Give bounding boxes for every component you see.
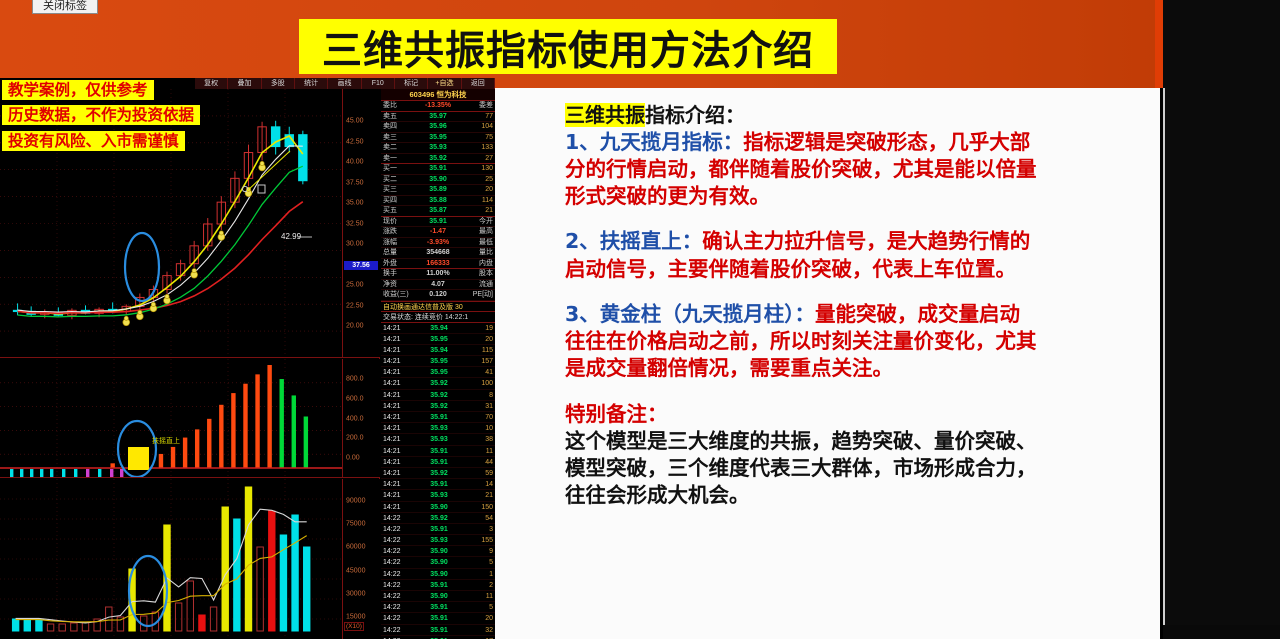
quote-row: 买二35.9025 bbox=[381, 175, 495, 186]
toolbar-button-1[interactable]: 叠加 bbox=[228, 78, 261, 89]
current-price-tag: 37.56 bbox=[344, 261, 378, 270]
note-label: 特别备注： bbox=[565, 401, 1142, 428]
quote-row: 现价35.91今开 bbox=[381, 217, 495, 228]
volume-bar bbox=[210, 607, 216, 631]
quote-row: 换手11.00%股本 bbox=[381, 269, 495, 280]
volume-bar bbox=[269, 511, 275, 631]
indicator-bar bbox=[280, 379, 284, 468]
description-panel: 三维共振指标介绍： 1、九天揽月指标：指标逻辑是突破形态，几乎大部 分的行情启动… bbox=[495, 88, 1160, 639]
tick-row: 14:2235.912 bbox=[381, 580, 495, 591]
volume-bar bbox=[234, 519, 240, 631]
disclaimer-1: 教学案例，仅供参考 bbox=[2, 80, 154, 100]
axis-label: 25.00 bbox=[346, 282, 364, 289]
price-annotation-label: 42.99 bbox=[281, 232, 302, 241]
axis-label: 400.0 bbox=[346, 415, 364, 422]
tick-row: 14:2135.92100 bbox=[381, 378, 495, 389]
volume-bar bbox=[36, 619, 42, 631]
trade-status: 交易状态: 连续竞价 14:22:1 bbox=[381, 312, 495, 323]
toolbar-button-0[interactable]: 复权 bbox=[195, 78, 228, 89]
indicator-bar bbox=[304, 417, 308, 469]
tick-row: 14:2135.9310 bbox=[381, 423, 495, 434]
toolbar-button-2[interactable]: 多股 bbox=[262, 78, 295, 89]
tick-row: 14:2235.915 bbox=[381, 602, 495, 613]
quote-row: 委比-13.35%委差 bbox=[381, 101, 495, 112]
buy-signal-marker bbox=[245, 187, 252, 197]
indicator-svg: 扶摇直上 bbox=[0, 359, 380, 478]
axis-label: 45.00 bbox=[346, 118, 364, 125]
axis-label: 32.50 bbox=[346, 220, 364, 227]
tick-row: 14:2135.9520 bbox=[381, 334, 495, 345]
indicator-lower-bar bbox=[40, 469, 43, 478]
quote-row: 买一35.91130 bbox=[381, 164, 495, 175]
axis-label: 200.0 bbox=[346, 435, 364, 442]
quote-row: 涨跌-1.47最高 bbox=[381, 227, 495, 238]
axis-label: 30000 bbox=[346, 590, 365, 597]
quote-row: 涨幅-3.93%最低 bbox=[381, 238, 495, 249]
item2-label: 2、扶摇直上： bbox=[565, 229, 702, 253]
note-line1: 这个模型是三大维度的共振，趋势突破、量价突破、 bbox=[565, 428, 1142, 455]
indicator-lower-bar bbox=[98, 469, 101, 478]
tick-row: 14:2135.9114 bbox=[381, 479, 495, 490]
indicator-lower-bar bbox=[86, 469, 89, 478]
quote-row: 卖四35.96104 bbox=[381, 122, 495, 133]
indicator-bar bbox=[171, 447, 175, 468]
signal-label-fuyaozhishang: 扶摇直上 bbox=[152, 436, 180, 445]
volume-bar bbox=[199, 615, 205, 631]
tick-row: 14:2235.905 bbox=[381, 557, 495, 568]
item3-label: 3、黄金柱（九天揽月柱）： bbox=[565, 302, 815, 326]
disclaimer-2: 历史数据，不作为投资依据 bbox=[2, 105, 200, 125]
volume-svg bbox=[0, 479, 380, 639]
candle bbox=[299, 135, 307, 181]
tick-row: 14:2135.9231 bbox=[381, 401, 495, 412]
volume-bar bbox=[59, 624, 65, 631]
indicator-lower-bar bbox=[62, 469, 65, 478]
chart-area[interactable]: 42.99 45.0042.5040.0037.5035.0032.5030.0… bbox=[0, 89, 380, 639]
indicator-lower-bar bbox=[110, 469, 113, 478]
header-right-strip bbox=[1155, 0, 1163, 88]
axis-label: 0.00 bbox=[346, 455, 360, 462]
buy-signal-marker bbox=[150, 302, 157, 312]
item1-line2: 分的行情启动，都伴随着股价突破，尤其是能以倍量 bbox=[565, 156, 1142, 183]
indicator-bar bbox=[159, 454, 163, 468]
letterbox-right bbox=[1163, 0, 1280, 639]
quote-row: 净资4.07流通 bbox=[381, 280, 495, 291]
toolbar-button-5[interactable]: F10 bbox=[362, 78, 395, 89]
toolbar-button-8[interactable]: 返回 bbox=[462, 78, 495, 89]
axis-label: 40.00 bbox=[346, 159, 364, 166]
tick-list[interactable]: 14:2135.941914:2135.952014:2135.9411514:… bbox=[381, 323, 495, 639]
axis-label: 15000 bbox=[346, 614, 365, 621]
tick-row: 14:2235.909 bbox=[381, 546, 495, 557]
volume-bar bbox=[292, 515, 298, 631]
tick-row: 14:2135.9541 bbox=[381, 367, 495, 378]
toolbar-button-4[interactable]: 画线 bbox=[328, 78, 361, 89]
indicator-lower-bar bbox=[30, 469, 33, 478]
axis-label: 800.0 bbox=[346, 376, 364, 383]
volume-bar bbox=[24, 619, 30, 631]
indicator-bar bbox=[110, 463, 114, 468]
indicator-bar bbox=[255, 374, 259, 468]
quote-row: 卖一35.9227 bbox=[381, 154, 495, 165]
axis-label: 45000 bbox=[346, 567, 365, 574]
quote-row: 买三35.8920 bbox=[381, 185, 495, 196]
terminal-toolbar[interactable]: 复权叠加多股统计画线F10标记+自选返回 bbox=[195, 78, 495, 89]
volume-bar bbox=[12, 619, 18, 631]
indicator-bar bbox=[219, 405, 223, 468]
kline-svg: 42.99 bbox=[0, 89, 380, 358]
disclaimer-3: 投资有风险、入市需谨慎 bbox=[2, 131, 185, 151]
tick-row: 14:2135.9338 bbox=[381, 434, 495, 445]
axis-label: 37.50 bbox=[346, 179, 364, 186]
buy-signal-marker bbox=[218, 231, 225, 241]
quote-row: 卖二35.93133 bbox=[381, 143, 495, 154]
tick-row: 14:2135.928 bbox=[381, 390, 495, 401]
volume-bar bbox=[222, 507, 228, 631]
tick-row: 14:2135.9419 bbox=[381, 323, 495, 334]
axis-label: 60000 bbox=[346, 544, 365, 551]
item1-line3: 形式突破的更为有效。 bbox=[565, 183, 1142, 210]
quote-row: 卖五35.9777 bbox=[381, 112, 495, 123]
item1-label: 1、九天揽月指标： bbox=[565, 130, 743, 154]
axis-label: 30.00 bbox=[346, 241, 364, 248]
stock-terminal-panel[interactable]: 复权叠加多股统计画线F10标记+自选返回 42.99 bbox=[0, 78, 495, 639]
note-line3: 往往会形成大机会。 bbox=[565, 482, 1142, 509]
toolbar-button-3[interactable]: 统计 bbox=[295, 78, 328, 89]
tick-row: 14:2135.9321 bbox=[381, 490, 495, 501]
item2-line2: 启动信号，主要伴随着股价突破，代表上车位置。 bbox=[565, 256, 1142, 283]
stock-title: 603496 恒为科技 bbox=[381, 89, 495, 101]
axis-label: 90000 bbox=[346, 498, 365, 505]
toolbar-button-7[interactable]: +自选 bbox=[428, 78, 461, 89]
heading-highlight: 三维共振 bbox=[565, 103, 645, 127]
kline-pane[interactable]: 42.99 45.0042.5040.0037.5035.0032.5030.0… bbox=[0, 89, 380, 358]
quote-row: 卖三35.9575 bbox=[381, 133, 495, 144]
volume-bar bbox=[47, 624, 53, 631]
tick-row: 14:2235.9011 bbox=[381, 591, 495, 602]
indicator-bar bbox=[231, 393, 235, 468]
indicator-bar bbox=[292, 395, 296, 468]
volume-axis-unit: (X10) bbox=[344, 622, 364, 631]
note-line2: 模型突破，三个维度代表三大群体，市场形成合力， bbox=[565, 455, 1142, 482]
tick-row: 14:2135.94115 bbox=[381, 345, 495, 356]
volume-bar bbox=[245, 487, 251, 631]
quote-row: 总量354668量比 bbox=[381, 248, 495, 259]
description-heading: 三维共振指标介绍： bbox=[565, 102, 1142, 129]
tick-row: 14:2235.901 bbox=[381, 569, 495, 580]
indicator-bar bbox=[207, 419, 211, 468]
item1-line1: 1、九天揽月指标：指标逻辑是突破形态，几乎大部 bbox=[565, 129, 1142, 156]
buy-signal-marker bbox=[259, 161, 266, 171]
tick-row: 14:2235.9120 bbox=[381, 613, 495, 624]
letterbox-bottom-right bbox=[1163, 625, 1280, 639]
indicator-lower-bar bbox=[10, 469, 13, 478]
page-title: 三维共振指标使用方法介绍 bbox=[322, 18, 814, 76]
indicator-lower-bar bbox=[74, 469, 77, 478]
indicator-lower-bar bbox=[20, 469, 23, 478]
indicator-lower-bar bbox=[50, 469, 53, 478]
tick-row: 14:2135.90150 bbox=[381, 502, 495, 513]
annotation-ellipse-jiutianlanyue bbox=[125, 233, 159, 301]
marquee-text: 自动换画通达信普及版 30 bbox=[381, 301, 495, 312]
item2-line1: 2、扶摇直上：确认主力拉升信号，是大趋势行情的 bbox=[565, 228, 1142, 255]
axis-label: 42.50 bbox=[346, 138, 364, 145]
tick-row: 14:2135.9144 bbox=[381, 457, 495, 468]
tick-row: 14:2135.9170 bbox=[381, 412, 495, 423]
page-title-banner: 三维共振指标使用方法介绍 bbox=[299, 19, 837, 74]
item3-body1: 量能突破，成交量启动 bbox=[815, 302, 1020, 326]
golden-marker-box bbox=[128, 447, 149, 470]
indicator-bar bbox=[243, 384, 247, 468]
item3-line2: 往往在价格启动之前，所以时刻关注量价变化，尤其 bbox=[565, 328, 1142, 355]
axis-label: 22.50 bbox=[346, 302, 364, 309]
indicator-bar bbox=[195, 429, 199, 468]
axis-label: 35.00 bbox=[346, 200, 364, 207]
close-tab-button[interactable]: 关闭标签 bbox=[32, 0, 98, 14]
tick-row: 14:2235.93155 bbox=[381, 535, 495, 546]
tick-row: 14:2235.9132 bbox=[381, 625, 495, 636]
axis-label: 20.00 bbox=[346, 323, 364, 330]
quote-row: 外盘166333内盘 bbox=[381, 259, 495, 270]
indicator-pane[interactable]: 扶摇直上 800.0600.0400.0200.00.00 bbox=[0, 359, 380, 478]
indicator-bar bbox=[183, 438, 187, 468]
item3-line1: 3、黄金柱（九天揽月柱）：量能突破，成交量启动 bbox=[565, 301, 1142, 328]
tick-row: 14:2135.9111 bbox=[381, 446, 495, 457]
quote-row: 买五35.8721 bbox=[381, 206, 495, 217]
item2-body1: 确认主力拉升信号，是大趋势行情的 bbox=[702, 229, 1030, 253]
indicator-lower-bar bbox=[120, 469, 123, 478]
indicator-bar bbox=[267, 365, 271, 468]
quote-row: 买四35.88114 bbox=[381, 196, 495, 207]
axis-label: 75000 bbox=[346, 521, 365, 528]
panel-right-edge bbox=[1163, 88, 1165, 639]
buy-signal-marker bbox=[123, 316, 130, 326]
volume-pane[interactable]: 900007500060000450003000015000 (X10) bbox=[0, 479, 380, 639]
item1-body1: 指标逻辑是突破形态，几乎大部 bbox=[743, 130, 1030, 154]
volume-bar bbox=[304, 547, 310, 631]
toolbar-button-6[interactable]: 标记 bbox=[395, 78, 428, 89]
volume-bar bbox=[187, 581, 193, 631]
tick-row: 14:2135.9259 bbox=[381, 468, 495, 479]
volume-bar bbox=[175, 603, 181, 631]
item3-line3: 是成交量翻倍情况，需要重点关注。 bbox=[565, 355, 1142, 382]
tick-row: 14:2235.913 bbox=[381, 524, 495, 535]
quote-row: 收益(三)0.120PE[动] bbox=[381, 290, 495, 301]
axis-label: 600.0 bbox=[346, 395, 364, 402]
tick-row: 14:2235.9254 bbox=[381, 513, 495, 524]
tick-row: 14:2135.95157 bbox=[381, 356, 495, 367]
volume-bar bbox=[71, 623, 77, 631]
quote-rows: 委比-13.35%委差卖五35.9777卖四35.96104卖三35.9575卖… bbox=[381, 101, 495, 301]
heading-rest: 指标介绍： bbox=[645, 103, 745, 127]
quote-panel[interactable]: 603496 恒为科技 委比-13.35%委差卖五35.9777卖四35.961… bbox=[381, 89, 495, 639]
